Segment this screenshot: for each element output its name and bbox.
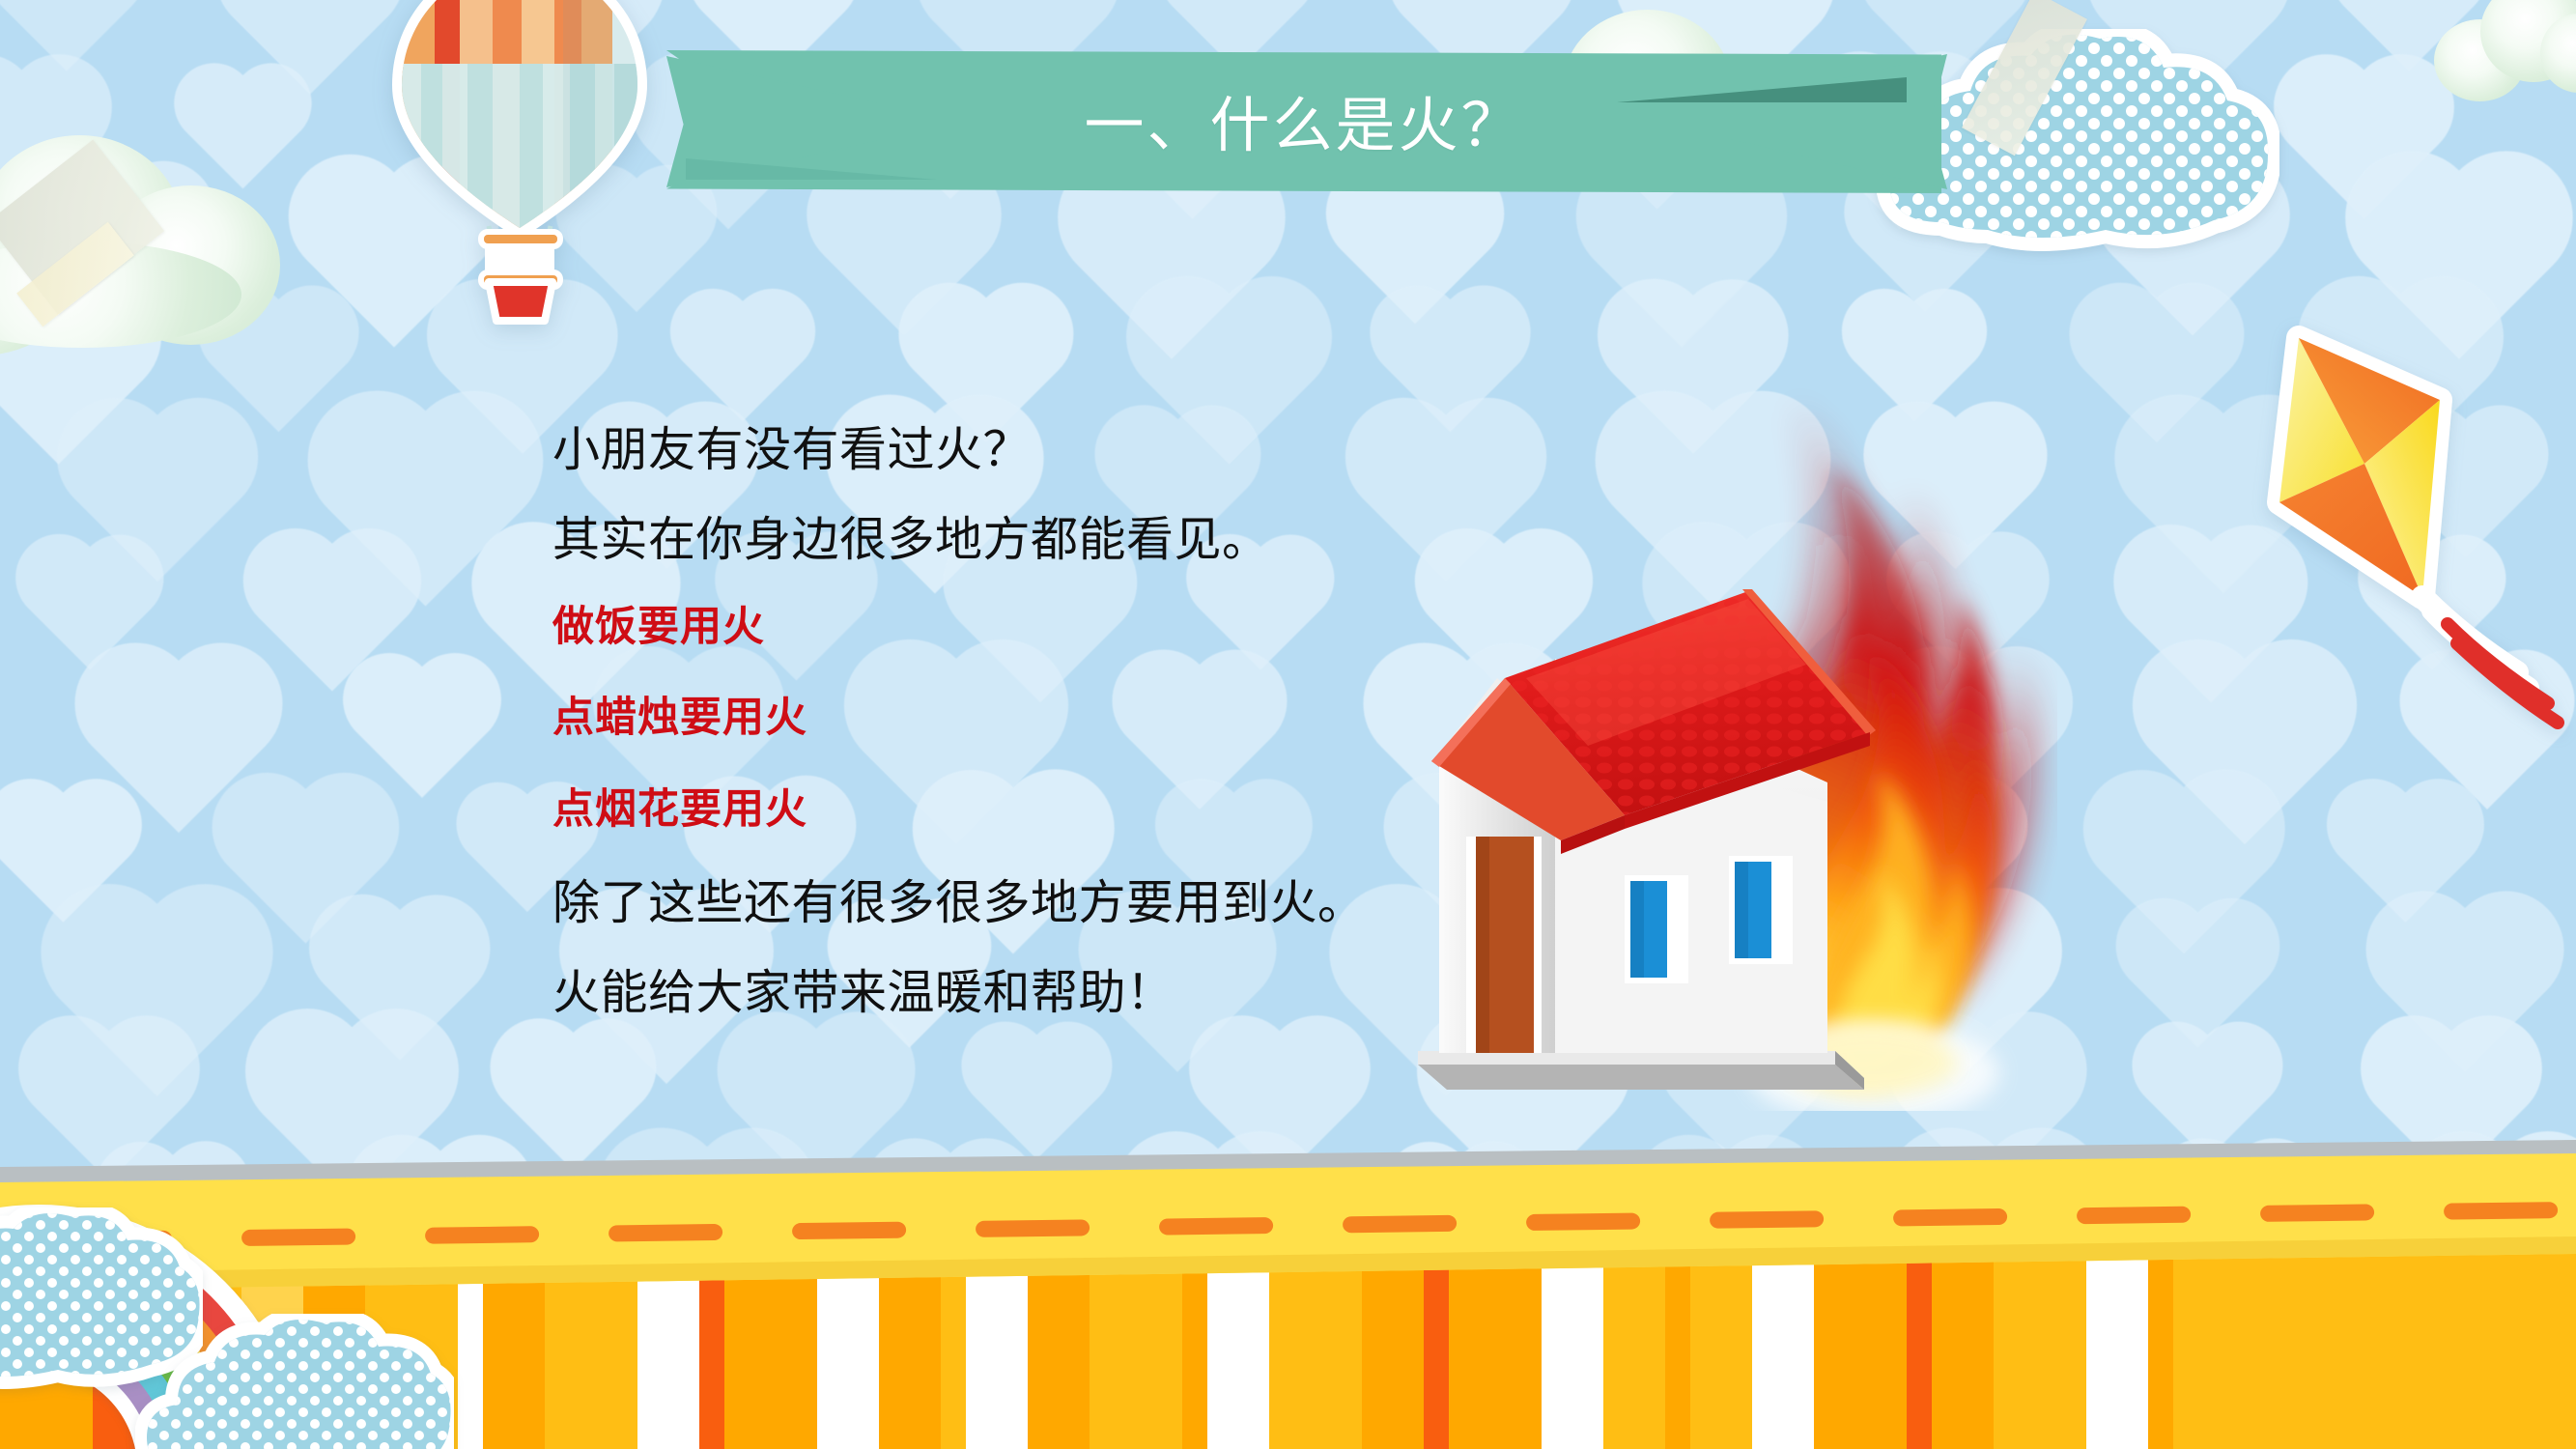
heart-shape <box>2344 0 2473 71</box>
presentation-slide: 一、什么是火？ <box>0 0 2576 1449</box>
heart-shape <box>0 70 97 218</box>
heart-shape <box>229 789 383 944</box>
road-dash <box>2260 1204 2374 1222</box>
road-dash <box>609 1224 722 1242</box>
body-line-5-accent: 点烟花要用火 <box>552 787 1470 832</box>
heart-shape <box>2340 792 2471 923</box>
heart-shape <box>0 792 128 923</box>
road-dash <box>425 1226 539 1244</box>
heart-shape <box>2058 73 2184 199</box>
burning-house-illustration <box>1381 299 2057 1111</box>
heart-shape <box>1858 179 1992 312</box>
heart-shape <box>2289 70 2438 218</box>
heart-shape <box>1077 170 1266 359</box>
heart-shape <box>2130 912 2265 1047</box>
heart-shape <box>53 177 200 324</box>
washi-tape-top-right <box>1962 0 2087 156</box>
washi-tape-top-left-warm <box>16 222 134 327</box>
page-title: 一、什么是火？ <box>666 50 1941 193</box>
body-line-1: 小朋友有没有看过火？ <box>552 425 1470 476</box>
road-dash <box>1159 1217 1273 1236</box>
slide-body-text: 小朋友有没有看过火？ 其实在你身边很多地方都能看见。 做饭要用火 点蜡烛要用火 … <box>552 425 1470 1058</box>
rainbow <box>0 1053 396 1449</box>
heart-shape <box>212 299 345 432</box>
heart-shape <box>28 547 151 669</box>
heart-shape <box>914 298 1059 442</box>
road-dash <box>2444 1202 2558 1220</box>
heart-shape <box>356 667 488 798</box>
soft-cloud-top-right <box>2434 0 2576 106</box>
hot-air-balloon <box>375 0 665 327</box>
heart-shape <box>325 910 474 1060</box>
heart-shape <box>2084 298 2229 442</box>
heart-shape <box>683 301 803 421</box>
heart-shape <box>2383 908 2547 1072</box>
road-dash <box>976 1219 1090 1237</box>
heart-shape <box>259 544 407 692</box>
body-line-4-accent: 点蜡烛要用火 <box>552 696 1470 740</box>
heart-shape <box>233 0 388 95</box>
heart-shape <box>74 415 241 582</box>
heart-shape <box>2111 175 2273 336</box>
road-dash <box>1526 1212 1640 1231</box>
heart-shape <box>327 411 523 606</box>
heart-shape <box>2 0 130 71</box>
heart-shape <box>2101 787 2268 954</box>
section-banner: 一、什么是火？ <box>666 50 1941 193</box>
body-line-7: 火能给大家带来温暖和帮助！ <box>552 968 1470 1019</box>
body-line-3-accent: 做饭要用火 <box>552 605 1470 649</box>
road-dash <box>1343 1215 1457 1234</box>
kite <box>2250 309 2576 773</box>
heart-shape <box>0 294 143 464</box>
heart-shape <box>824 175 985 336</box>
heart-shape <box>2104 0 2273 106</box>
road-dash <box>1893 1208 2007 1227</box>
road-dash <box>1710 1210 1824 1229</box>
body-line-2: 其实在你身边很多地方都能看见。 <box>552 515 1470 566</box>
road-dash <box>2077 1207 2191 1225</box>
heart-shape <box>93 661 265 833</box>
road-dash <box>792 1222 906 1240</box>
soft-cloud-top-left <box>0 126 290 348</box>
body-line-6: 除了这些还有很多很多地方要用到火。 <box>552 878 1470 929</box>
washi-tape-top-left <box>0 140 164 315</box>
heart-shape <box>186 75 300 189</box>
